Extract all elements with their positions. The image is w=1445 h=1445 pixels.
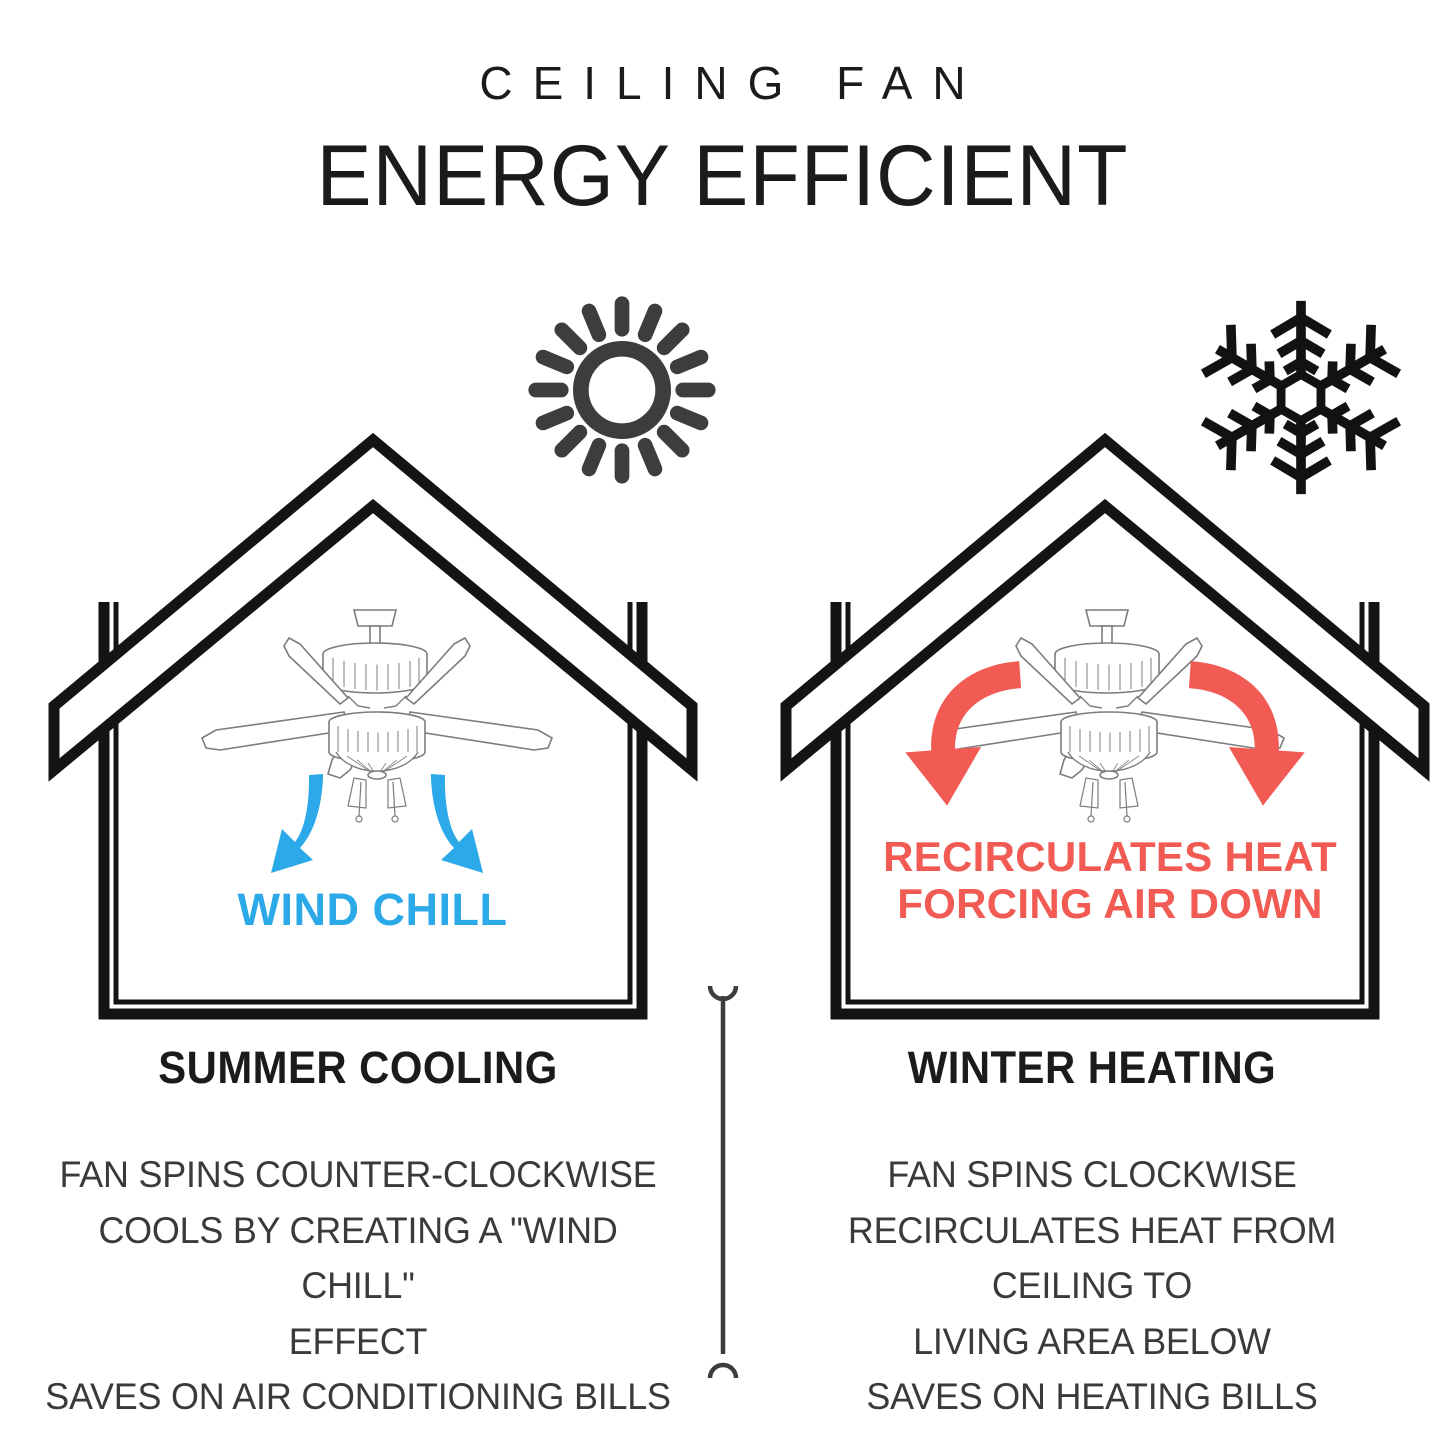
ceiling-fan-illustration <box>202 610 552 822</box>
summer-cooling-title: SUMMER COOLING <box>51 1042 665 1094</box>
winter-heating-panel <box>780 430 1430 1020</box>
summer-cooling-column: SUMMER COOLING FAN SPINS COUNTER-CLOCKWI… <box>28 1042 688 1425</box>
kicker-title: CEILING FAN <box>0 58 1445 109</box>
recirculates-heat-callout: RECIRCULATES HEAT FORCING AIR DOWN <box>860 833 1360 927</box>
winter-heating-body: FAN SPINS CLOCKWISE RECIRCULATES HEAT FR… <box>772 1147 1412 1425</box>
airflow-arrow-right <box>431 774 483 873</box>
ceiling-fan-illustration <box>934 610 1284 822</box>
summer-cooling-body: FAN SPINS COUNTER-CLOCKWISE COOLS BY CRE… <box>38 1147 678 1425</box>
airflow-arrow-left <box>271 774 323 873</box>
vertical-ornamental-divider <box>700 982 746 1382</box>
header-block: CEILING FAN ENERGY EFFICIENT <box>0 0 1445 230</box>
wind-chill-callout: WIND CHILL <box>100 885 645 935</box>
page-title: ENERGY EFFICIENT <box>29 123 1416 231</box>
infographic-canvas: CEILING FAN ENERGY EFFICIENT <box>0 0 1445 1445</box>
winter-heating-title: WINTER HEATING <box>785 1042 1399 1094</box>
winter-heating-column: WINTER HEATING FAN SPINS CLOCKWISE RECIR… <box>762 1042 1422 1425</box>
